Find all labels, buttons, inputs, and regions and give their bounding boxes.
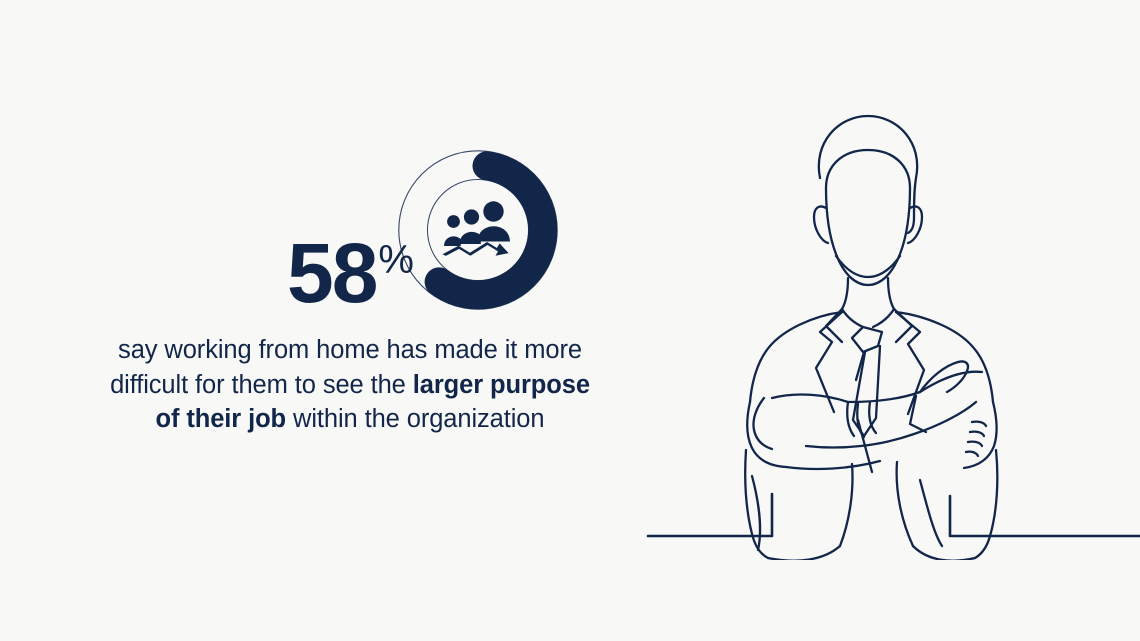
caption-line-3: of their job within the organization xyxy=(0,402,700,437)
ground-line xyxy=(648,494,772,536)
jacket-hem-right xyxy=(913,546,975,560)
caption-line-3-bold: of their job xyxy=(156,405,287,433)
caption-line-2-plain: difficult for them to see the xyxy=(110,371,413,399)
sleeve-left-inner xyxy=(753,398,772,449)
hand-left xyxy=(847,402,876,437)
jacket-front-edge xyxy=(840,464,853,546)
fingers-right xyxy=(966,422,986,456)
infographic-canvas: 58 % xyxy=(0,0,1140,641)
donut-chart xyxy=(397,149,559,311)
stat-number-row: 58 % xyxy=(0,236,700,312)
stat-value: 58 xyxy=(287,236,376,312)
collar-right xyxy=(873,309,894,327)
caption-line-2: difficult for them to see the larger pur… xyxy=(0,368,700,403)
jacket-body-left xyxy=(745,450,768,558)
donut-hole xyxy=(428,180,528,280)
pocket-right xyxy=(920,480,942,546)
caption-text: say working from home has made it more d… xyxy=(0,333,700,437)
tie-knot xyxy=(852,327,882,352)
neck-right xyxy=(888,278,894,309)
jacket-front-edge-2 xyxy=(897,462,913,546)
businessman-illustration xyxy=(620,80,1140,560)
caption-line-3-plain: within the organization xyxy=(286,405,544,433)
collar-left xyxy=(842,309,863,327)
arm-left-bottom xyxy=(786,461,880,469)
sleeve-left xyxy=(747,402,786,467)
caption-line-2-bold: larger purpose xyxy=(413,371,590,399)
jaw-line xyxy=(836,256,900,277)
caption-line-1: say working from home has made it more xyxy=(0,333,700,368)
hair-outline xyxy=(819,116,917,233)
head-outline xyxy=(826,150,910,285)
sleeve-right xyxy=(964,402,997,468)
arm-left-top xyxy=(772,395,848,402)
jacket-hem-left xyxy=(768,546,840,560)
stat-block: 58 % xyxy=(0,236,700,312)
neck-left xyxy=(842,278,848,309)
ground-line-right xyxy=(950,496,1140,536)
jacket-body-right xyxy=(975,450,997,558)
